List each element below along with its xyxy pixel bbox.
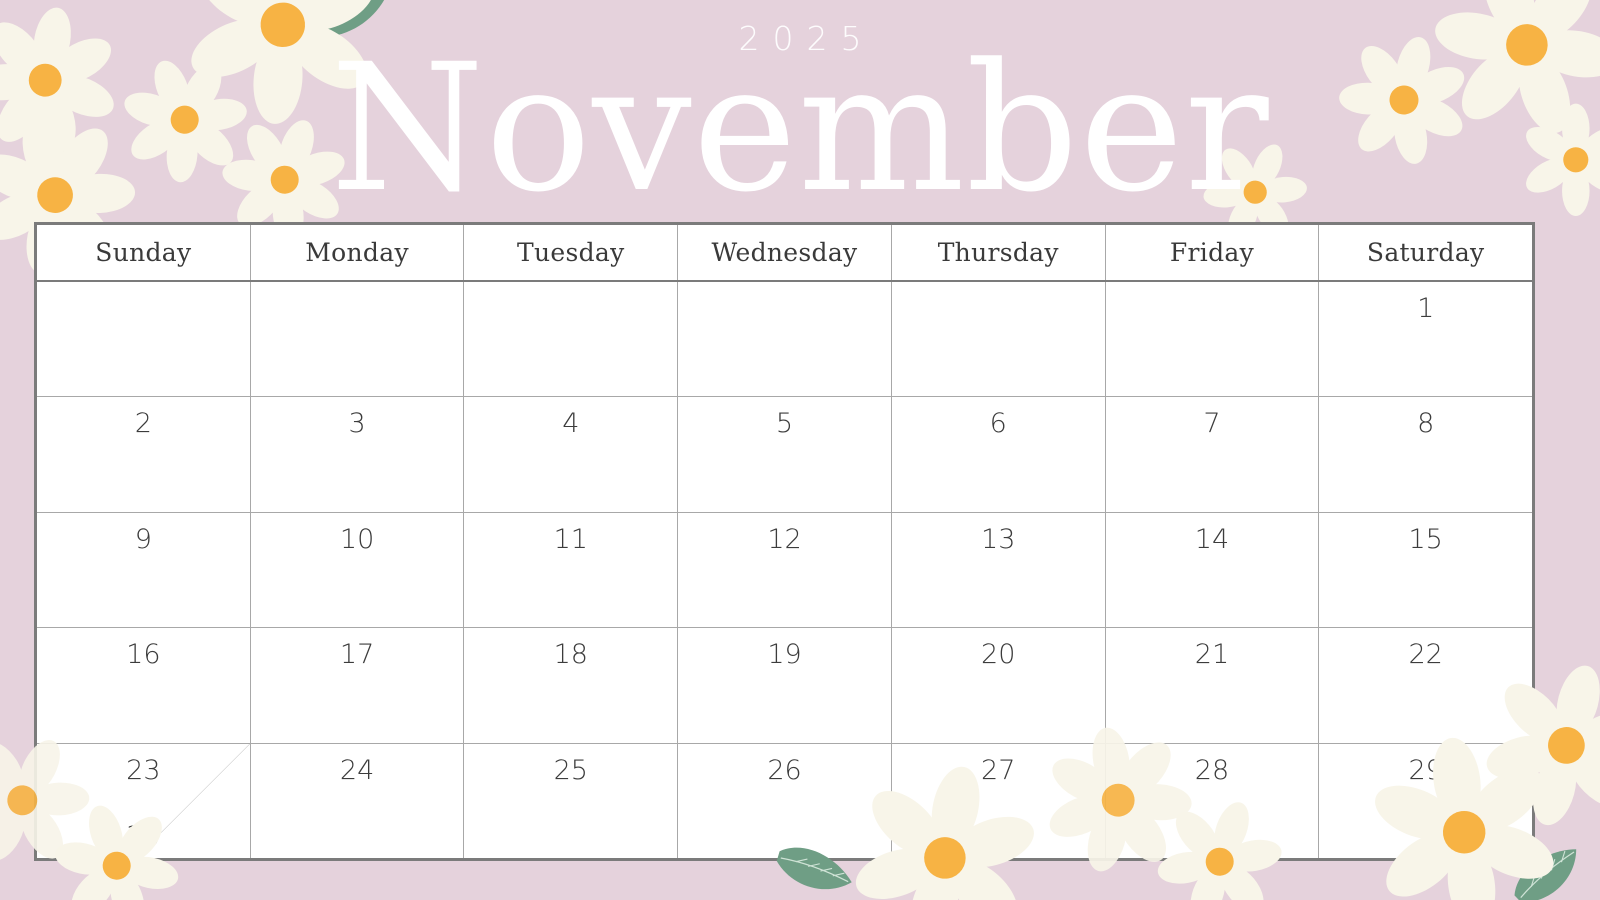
weekday-header-label: Sunday bbox=[95, 238, 191, 267]
calendar-day-cell-16[interactable]: 16 bbox=[37, 628, 251, 742]
calendar-day-number: 1 bbox=[1319, 292, 1532, 326]
calendar-week-row: 9101112131415 bbox=[37, 513, 1532, 628]
weekday-header-label: Thursday bbox=[938, 238, 1059, 267]
calendar-week-row: 1 bbox=[37, 282, 1532, 397]
calendar-week-row: 2330242526272829 bbox=[37, 744, 1532, 858]
calendar-day-number: 9 bbox=[37, 523, 250, 557]
calendar-day-number: 15 bbox=[1319, 523, 1532, 557]
calendar-day-number: 4 bbox=[464, 407, 677, 441]
calendar-day-cell-20[interactable]: 20 bbox=[892, 628, 1106, 742]
calendar-day-cell-18[interactable]: 18 bbox=[464, 628, 678, 742]
calendar-day-number: 2 bbox=[37, 407, 250, 441]
calendar-day-cell-19[interactable]: 19 bbox=[678, 628, 892, 742]
calendar-day-cell-11[interactable]: 11 bbox=[464, 513, 678, 627]
weekday-header-wednesday: Wednesday bbox=[678, 225, 892, 280]
calendar-day-cell-28[interactable]: 28 bbox=[1106, 744, 1320, 858]
calendar-day-cell-17[interactable]: 17 bbox=[251, 628, 465, 742]
calendar-day-cell-21[interactable]: 21 bbox=[1106, 628, 1320, 742]
calendar-day-number: 13 bbox=[892, 523, 1105, 557]
calendar-day-number: 24 bbox=[251, 754, 464, 788]
calendar-day-cell-6[interactable]: 6 bbox=[892, 397, 1106, 511]
calendar-day-cell-29[interactable]: 29 bbox=[1319, 744, 1532, 858]
calendar-day-cell-14[interactable]: 14 bbox=[1106, 513, 1320, 627]
calendar-day-cell-8[interactable]: 8 bbox=[1319, 397, 1532, 511]
weekday-header-monday: Monday bbox=[251, 225, 465, 280]
calendar-day-number: 28 bbox=[1106, 754, 1319, 788]
calendar-day-number: 3 bbox=[251, 407, 464, 441]
calendar-day-number: 19 bbox=[678, 638, 891, 672]
calendar-day-cell-empty[interactable] bbox=[464, 282, 678, 396]
month-label: November bbox=[0, 47, 1600, 211]
weekday-header-row: SundayMondayTuesdayWednesdayThursdayFrid… bbox=[37, 225, 1532, 282]
calendar-day-cell-9[interactable]: 9 bbox=[37, 513, 251, 627]
calendar-day-number: 8 bbox=[1319, 407, 1532, 441]
calendar-day-cell-4[interactable]: 4 bbox=[464, 397, 678, 511]
calendar-day-number: 17 bbox=[251, 638, 464, 672]
calendar-day-number: 26 bbox=[678, 754, 891, 788]
calendar-day-number: 18 bbox=[464, 638, 677, 672]
calendar-title-block: 2025 November bbox=[0, 22, 1600, 211]
calendar-day-cell-10[interactable]: 10 bbox=[251, 513, 465, 627]
calendar-day-cell-5[interactable]: 5 bbox=[678, 397, 892, 511]
calendar-day-cell-2[interactable]: 2 bbox=[37, 397, 251, 511]
calendar-day-cell-empty[interactable] bbox=[1106, 282, 1320, 396]
calendar-weeks: 1234567891011121314151617181920212223302… bbox=[37, 282, 1532, 858]
calendar-day-number: 16 bbox=[37, 638, 250, 672]
weekday-header-sunday: Sunday bbox=[37, 225, 251, 280]
calendar-day-cell-empty[interactable] bbox=[892, 282, 1106, 396]
calendar-day-number: 25 bbox=[464, 754, 677, 788]
weekday-header-label: Tuesday bbox=[517, 238, 625, 267]
calendar-day-cell-22[interactable]: 22 bbox=[1319, 628, 1532, 742]
calendar-day-number: 10 bbox=[251, 523, 464, 557]
calendar-day-number: 30 bbox=[37, 820, 250, 854]
calendar-day-number: 27 bbox=[892, 754, 1105, 788]
calendar-grid: SundayMondayTuesdayWednesdayThursdayFrid… bbox=[34, 222, 1535, 861]
weekday-header-friday: Friday bbox=[1106, 225, 1320, 280]
calendar-day-number: 11 bbox=[464, 523, 677, 557]
weekday-header-tuesday: Tuesday bbox=[464, 225, 678, 280]
weekday-header-label: Saturday bbox=[1367, 238, 1485, 267]
calendar-day-cell-split-23-30[interactable]: 2330 bbox=[37, 744, 251, 858]
calendar-day-cell-26[interactable]: 26 bbox=[678, 744, 892, 858]
calendar-day-number: 29 bbox=[1319, 754, 1532, 788]
weekday-header-thursday: Thursday bbox=[892, 225, 1106, 280]
calendar-day-cell-15[interactable]: 15 bbox=[1319, 513, 1532, 627]
weekday-header-label: Friday bbox=[1170, 238, 1254, 267]
calendar-day-cell-13[interactable]: 13 bbox=[892, 513, 1106, 627]
calendar-day-number: 12 bbox=[678, 523, 891, 557]
calendar-day-number: 6 bbox=[892, 407, 1105, 441]
calendar-day-cell-1[interactable]: 1 bbox=[1319, 282, 1532, 396]
weekday-header-label: Wednesday bbox=[712, 238, 858, 267]
year-label: 2025 bbox=[0, 22, 1600, 55]
calendar-day-cell-24[interactable]: 24 bbox=[251, 744, 465, 858]
calendar-day-cell-empty[interactable] bbox=[251, 282, 465, 396]
calendar-page: 2025 November SundayMondayTuesdayWednesd… bbox=[0, 0, 1600, 900]
calendar-day-cell-27[interactable]: 27 bbox=[892, 744, 1106, 858]
calendar-day-number: 22 bbox=[1319, 638, 1532, 672]
weekday-header-label: Monday bbox=[305, 238, 409, 267]
calendar-day-number: 14 bbox=[1106, 523, 1319, 557]
calendar-day-cell-7[interactable]: 7 bbox=[1106, 397, 1320, 511]
weekday-header-saturday: Saturday bbox=[1319, 225, 1532, 280]
calendar-day-number: 7 bbox=[1106, 407, 1319, 441]
calendar-day-number: 21 bbox=[1106, 638, 1319, 672]
calendar-day-cell-empty[interactable] bbox=[678, 282, 892, 396]
calendar-day-cell-3[interactable]: 3 bbox=[251, 397, 465, 511]
calendar-day-number: 5 bbox=[678, 407, 891, 441]
calendar-week-row: 2345678 bbox=[37, 397, 1532, 512]
calendar-day-cell-25[interactable]: 25 bbox=[464, 744, 678, 858]
calendar-week-row: 16171819202122 bbox=[37, 628, 1532, 743]
calendar-day-cell-empty[interactable] bbox=[37, 282, 251, 396]
calendar-day-number: 23 bbox=[37, 754, 250, 788]
calendar-day-cell-12[interactable]: 12 bbox=[678, 513, 892, 627]
calendar-day-number: 20 bbox=[892, 638, 1105, 672]
